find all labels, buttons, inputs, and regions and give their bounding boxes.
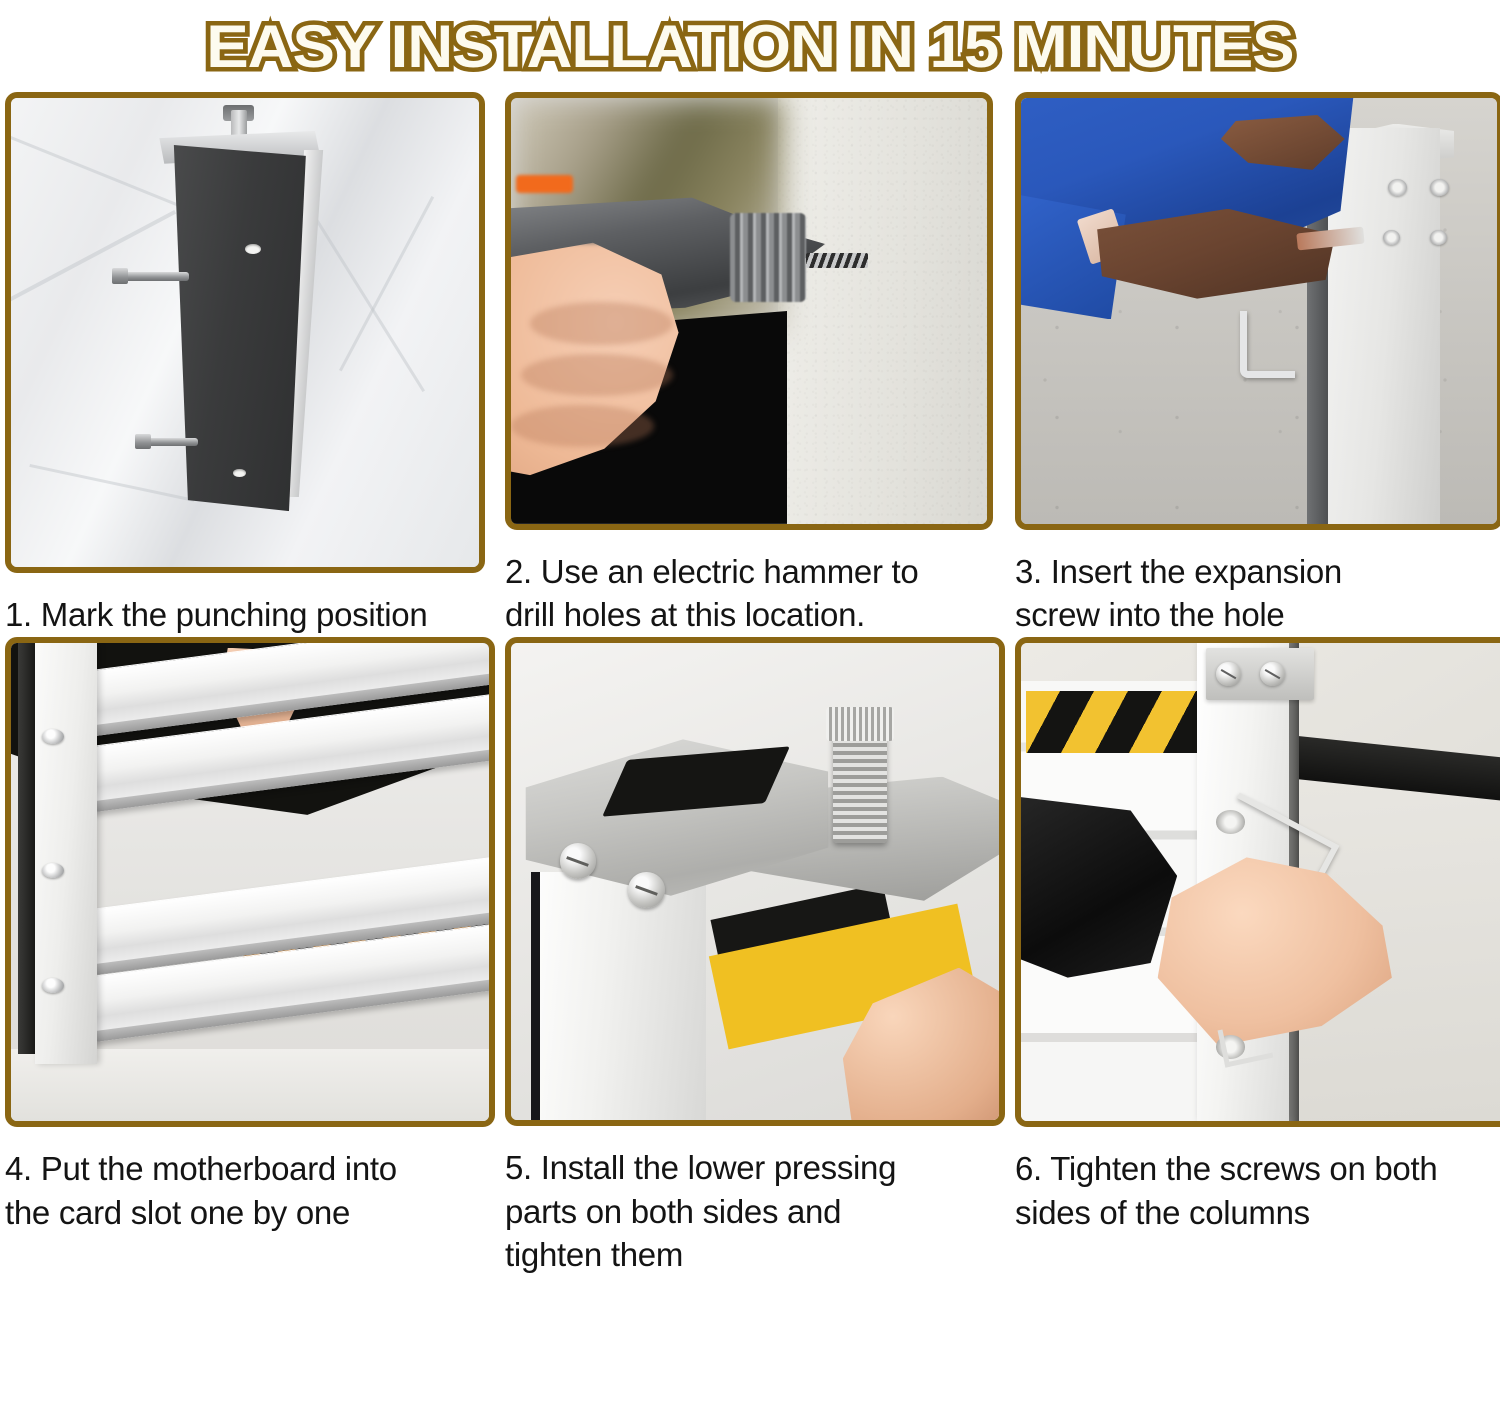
drill-trigger-highlight: [516, 175, 573, 193]
vertical-post: [35, 643, 97, 1064]
step-5-photo: [505, 637, 1005, 1126]
step-card-3: 3. Insert the expansion screw into the h…: [1015, 92, 1500, 637]
scene-pressing-bracket: [511, 643, 999, 1120]
caption-line: 2. Use an electric hammer to: [505, 550, 1005, 594]
step-1-photo: [5, 92, 485, 573]
finger-crease: [530, 302, 673, 345]
caption-line: 4. Put the motherboard into: [5, 1147, 495, 1191]
caption-line: 3. Insert the expansion: [1015, 550, 1500, 594]
column-screw: [1260, 662, 1284, 686]
caption-line: screw into the hole: [1015, 593, 1500, 637]
finger-crease: [511, 405, 654, 448]
step-4-photo: [5, 637, 495, 1127]
white-column: [540, 872, 706, 1120]
step-1-caption: 1. Mark the punching position: [5, 593, 495, 637]
side-bolt-upper-head: [112, 268, 129, 284]
caption-line: parts on both sides and: [505, 1190, 1005, 1234]
caption-line: tighten them: [505, 1233, 1005, 1277]
hazard-stripe-board: [1026, 691, 1202, 753]
allen-key-on-floor: [1240, 311, 1295, 378]
step-4-caption: 4. Put the motherboard into the card slo…: [5, 1147, 495, 1234]
caption-line: drill holes at this location.: [505, 593, 1005, 637]
scene-tighten-screws: [1021, 643, 1500, 1121]
drill-chuck: [730, 213, 806, 302]
mounting-hole-upper: [245, 244, 261, 254]
post-rivet: [42, 978, 64, 993]
step-card-1: 1. Mark the punching position: [5, 92, 495, 637]
post-rivet: [42, 863, 64, 878]
caption-line: 5. Install the lower pressing: [505, 1146, 1005, 1190]
step-6-caption: 6. Tighten the screws on both sides of t…: [1015, 1147, 1500, 1234]
mounting-column: [165, 145, 305, 511]
step-card-4: 4. Put the motherboard into the card slo…: [5, 637, 495, 1277]
step-3-caption: 3. Insert the expansion screw into the h…: [1015, 550, 1500, 637]
step-card-6: 6. Tighten the screws on both sides of t…: [1015, 637, 1500, 1277]
column-screw: [1388, 179, 1407, 196]
scene-expansion-screw: [1021, 98, 1497, 524]
step-card-2: 2. Use an electric hammer to drill holes…: [505, 92, 1005, 637]
finger-crease: [521, 354, 673, 397]
caption-line: sides of the columns: [1015, 1191, 1500, 1235]
step-2-photo: [505, 92, 993, 530]
wall-surface: [778, 98, 987, 524]
caption-line: the card slot one by one: [5, 1191, 495, 1235]
post-rivet: [42, 729, 64, 744]
scene-column-on-cloth: [11, 98, 479, 567]
scene-boards-into-slot: [11, 643, 489, 1121]
steps-grid: 1. Mark the punching position 2. Use an …: [0, 92, 1500, 1403]
bracket-screw: [628, 872, 665, 908]
column-screw: [1216, 662, 1240, 686]
step-5-caption: 5. Install the lower pressing parts on b…: [505, 1146, 1005, 1277]
step-2-caption: 2. Use an electric hammer to drill holes…: [505, 550, 1005, 637]
step-6-photo: [1015, 637, 1500, 1127]
scene-drill-into-wall: [511, 98, 987, 524]
drill-bit: [806, 253, 868, 267]
page-title: EASY INSTALLATION IN 15 MINUTES: [206, 12, 1293, 81]
thumb-bolt-head: [826, 707, 894, 740]
side-bolt-lower-head: [135, 434, 151, 449]
header-banner: EASY INSTALLATION IN 15 MINUTES: [0, 0, 1500, 92]
caption-line: 6. Tighten the screws on both: [1015, 1147, 1500, 1191]
step-3-photo: [1015, 92, 1500, 530]
caption-line: 1. Mark the punching position: [5, 593, 495, 637]
step-card-5: 5. Install the lower pressing parts on b…: [505, 637, 1005, 1277]
